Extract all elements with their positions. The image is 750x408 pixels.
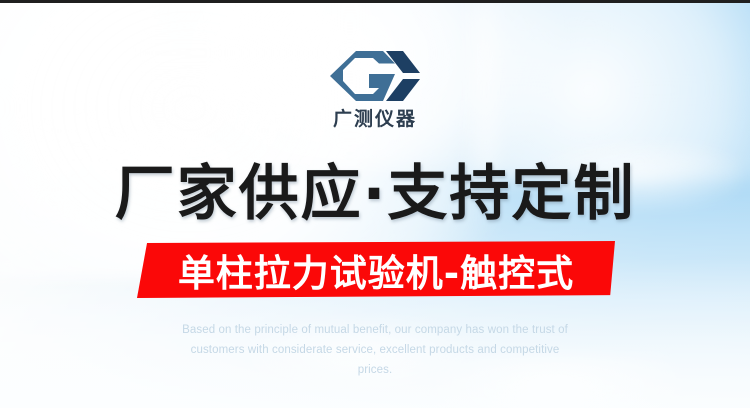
top-edge-strip — [0, 0, 750, 3]
hexagon-g-logo-icon — [327, 48, 423, 104]
logo-company-name: 广测仪器 — [333, 110, 417, 129]
brand-logo: 广测仪器 — [0, 48, 750, 129]
page-title: 厂家供应·支持定制 — [0, 160, 750, 229]
subtitle-paragraph: Based on the principle of mutual benefit… — [175, 320, 575, 380]
promo-banner-root: 广测仪器 厂家供应·支持定制 单柱拉力试验机-触控式 Based on the … — [0, 0, 750, 408]
product-banner-label: 单柱拉力试验机-触控式 — [137, 241, 615, 298]
